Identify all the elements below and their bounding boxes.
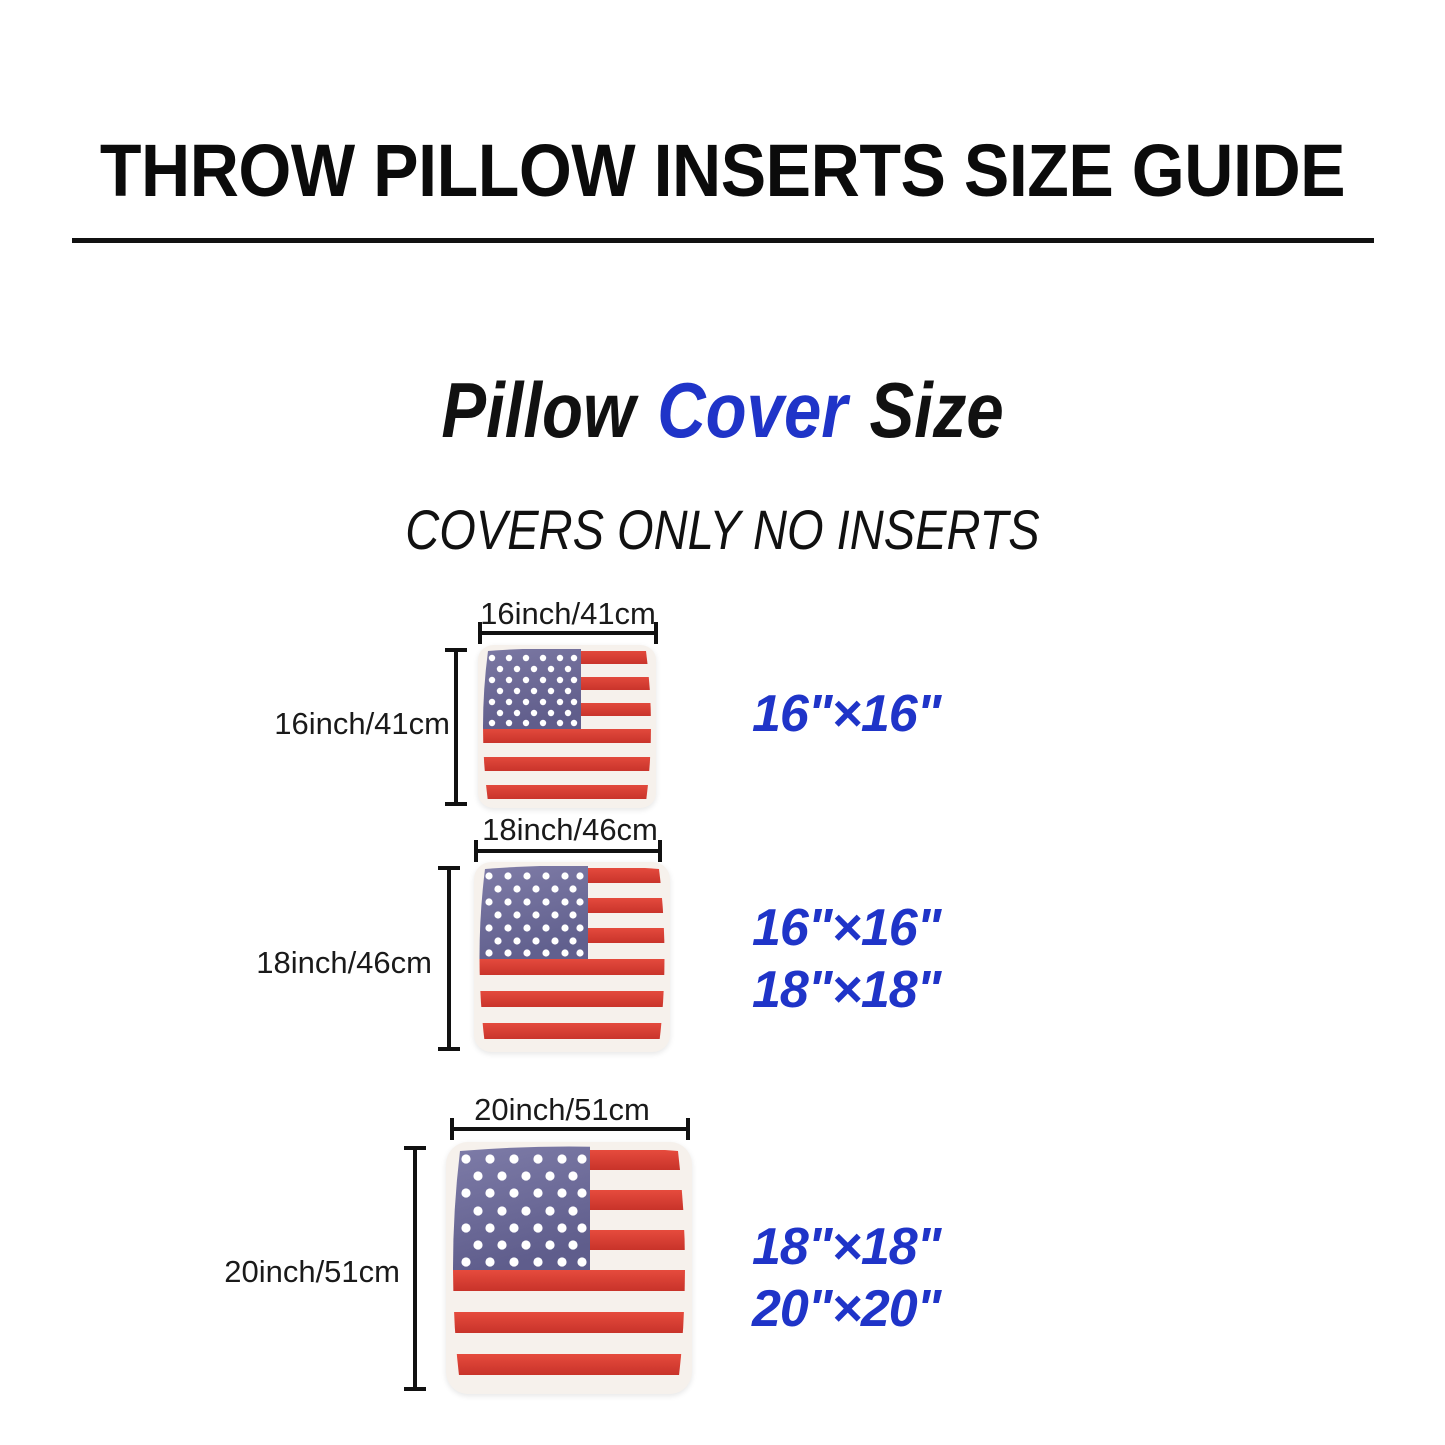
- american-flag-artwork: [446, 1142, 692, 1394]
- dimension-line: [450, 1127, 690, 1131]
- dimension-cap-start: [404, 1146, 426, 1150]
- size-option: 18"×18": [752, 1216, 940, 1278]
- size-option: 20"×20": [752, 1278, 940, 1340]
- dimension-cap-end: [686, 1118, 690, 1140]
- pillow-row-20: 20inch/51cm 20inch/51cm: [0, 0, 1445, 1445]
- pillow-20-height-dimension-bar: [404, 1146, 426, 1391]
- pillow-20-height-label: 20inch/51cm: [190, 1254, 400, 1290]
- dimension-line: [413, 1146, 417, 1391]
- pillow-image-20: [446, 1142, 692, 1394]
- dimension-cap-start: [450, 1118, 454, 1140]
- dimension-cap-end: [404, 1387, 426, 1391]
- size-guide-page: THROW PILLOW INSERTS SIZE GUIDE Pillow C…: [0, 0, 1445, 1445]
- pillow-20-width-dimension-bar: [450, 1118, 690, 1140]
- pillow-20-size-callout: 18"×18" 20"×20": [752, 1216, 940, 1340]
